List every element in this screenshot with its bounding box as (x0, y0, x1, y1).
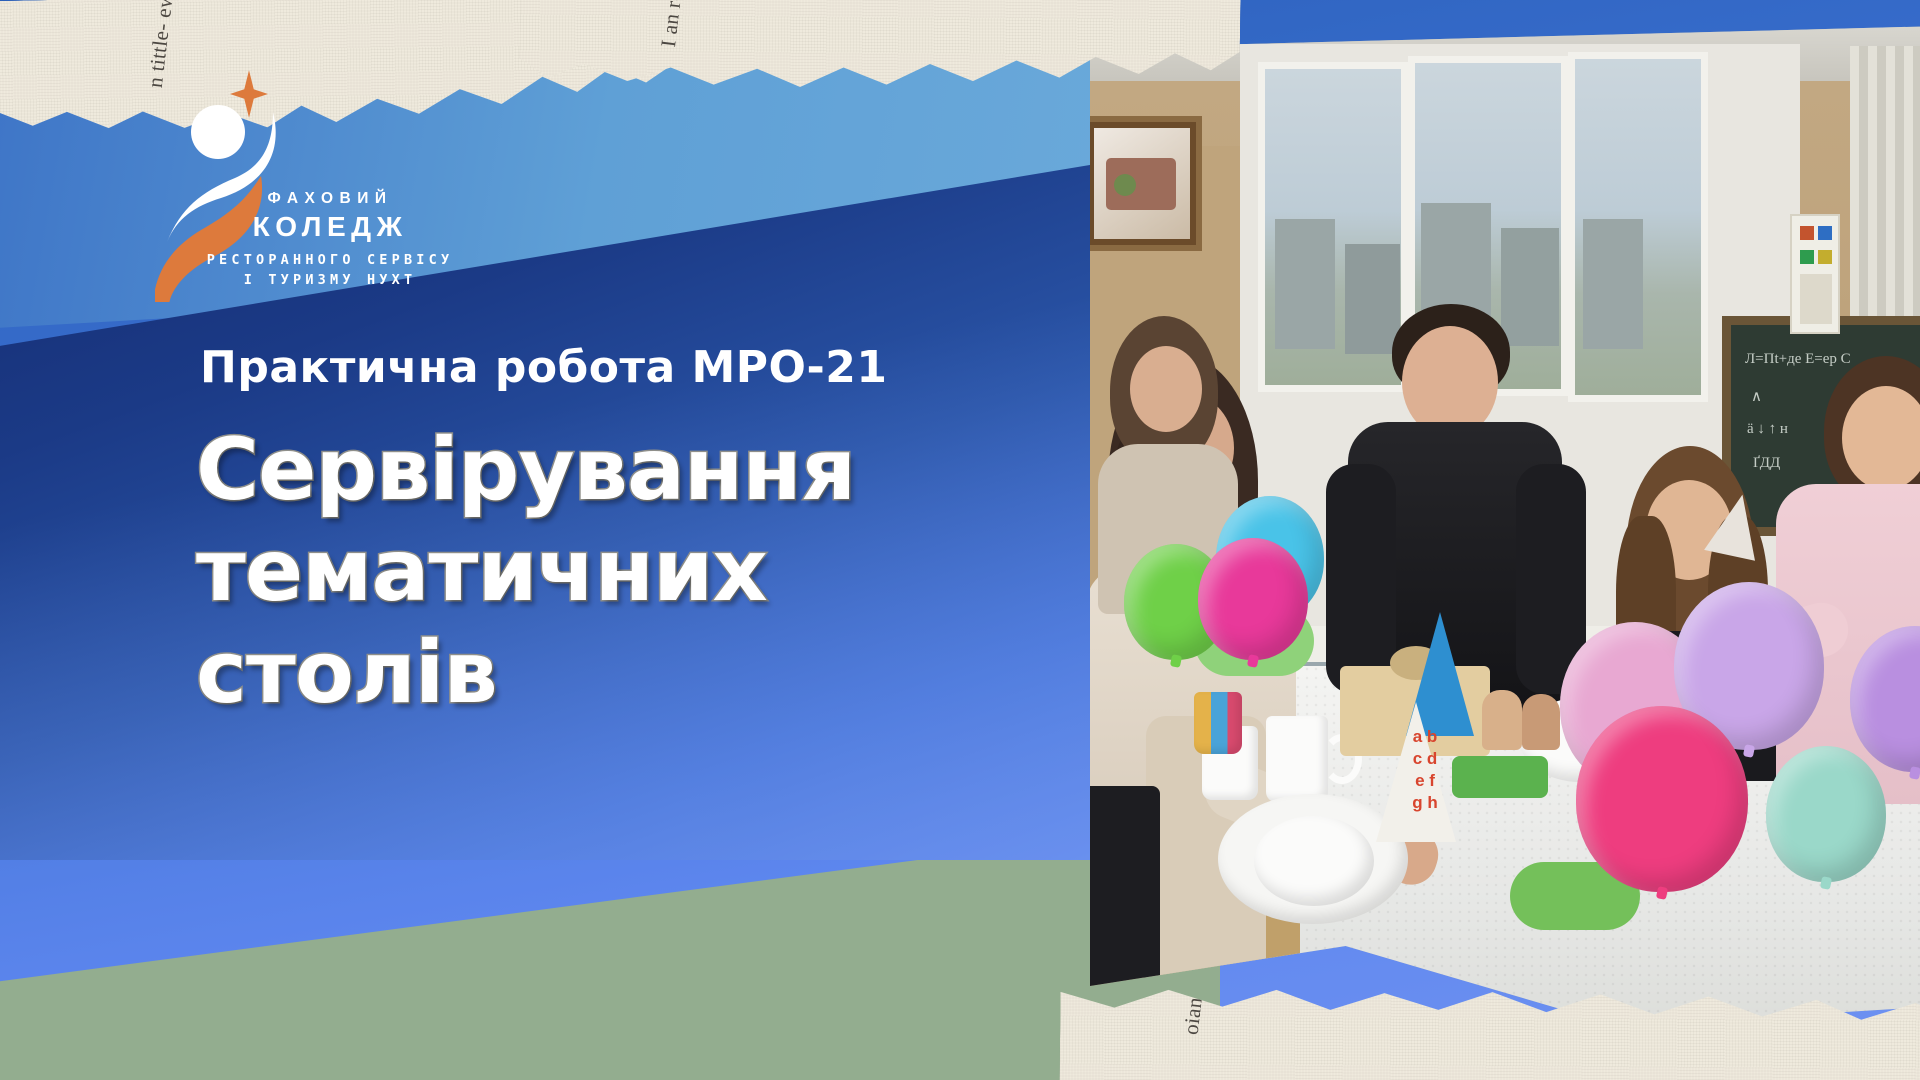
cup-3 (1194, 692, 1242, 754)
logo-line-4: І ТУРИЗМУ НУХТ (165, 272, 495, 288)
college-logo: ФАХОВИЙ КОЛЕДЖ РЕСТОРАННОГО СЕРВІСУ І ТУ… (155, 70, 495, 300)
balloon-teal (1766, 746, 1886, 882)
person-girl-back (1090, 316, 1240, 576)
logo-text-block: ФАХОВИЙ КОЛЕДЖ РЕСТОРАННОГО СЕРВІСУ І ТУ… (165, 190, 495, 288)
cup-2 (1266, 716, 1328, 802)
logo-line-2: КОЛЕДЖ (165, 211, 495, 243)
headline: Сервірування тематичних столів (196, 420, 996, 724)
headline-line-3: столів (196, 623, 996, 724)
classroom-photo: Л=Пt+де E=ер C ∧ ä ↓ ↑ н ҐДД (1090, 26, 1920, 1026)
poster-canvas: Л=Пt+де E=ер C ∧ ä ↓ ↑ н ҐДД (0, 0, 1920, 1080)
torn-paper-text-top-right: I an rev be a (653, 0, 855, 59)
party-hat-letters: a bc de fg h (1390, 726, 1460, 844)
balloon-hotpink (1576, 706, 1748, 892)
headline-line-1: Сервірування (196, 420, 996, 521)
logo-line-3: РЕСТОРАННОГО СЕРВІСУ (165, 252, 495, 268)
balloon-magenta (1198, 538, 1308, 660)
headline-line-2: тематичних (196, 521, 996, 622)
framed-picture-icon (1090, 116, 1202, 251)
bowl-3 (1254, 816, 1374, 906)
logo-line-1: ФАХОВИЙ (165, 190, 495, 208)
toy-figure-2 (1522, 694, 1560, 750)
subtitle: Практична робота МРО-21 (200, 342, 887, 393)
toy-figure-1 (1482, 690, 1522, 750)
wall-poster (1790, 214, 1840, 334)
toy-car (1452, 756, 1548, 798)
